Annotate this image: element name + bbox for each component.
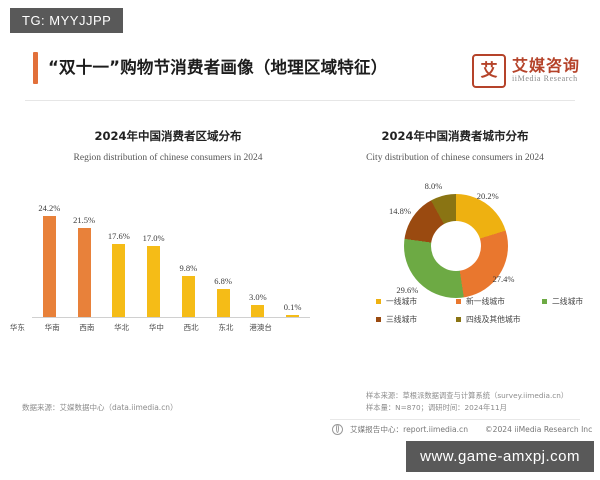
logo-text: 艾媒咨询 iiMedia Research [512,58,580,83]
footer-bar: 艾媒报告中心：report.iimedia.cn ©2024 iiMedia R… [332,424,592,435]
logo-name-en: iiMedia Research [512,75,580,83]
legend-item[interactable]: 二线城市 [542,296,588,307]
watermark-top-left: TG: MYYJJPP [10,8,123,33]
left-chart-subtitle: Region distribution of chinese consumers… [18,153,318,163]
donut-value-label: 20.2% [477,191,499,201]
bar-category-labels: 华东华南西南华北华中西北东北港澳台 [0,322,278,333]
left-chart-header: 2024年中国消费者区域分布 Region distribution of ch… [18,128,318,163]
bar-column: 3.0% [241,196,276,317]
legend-swatch-icon [456,299,461,304]
left-chart-title: 2024年中国消费者区域分布 [18,128,318,144]
bar-column: 0.1% [275,196,310,317]
bar-value-label: 17.0% [143,233,165,243]
bar-column: 21.5% [67,196,102,317]
bar-chart-axis [32,317,310,318]
legend-swatch-icon [456,317,461,322]
sample-size: 样本量：N=870；调研时间：2024年11月 [366,402,568,414]
bar [43,216,56,317]
bar-category-label: 华中 [139,322,174,333]
bar-value-label: 9.8% [180,263,198,273]
report-center-link[interactable]: 艾媒报告中心：report.iimedia.cn [350,424,468,435]
legend-swatch-icon [376,317,381,322]
donut-value-label: 29.6% [396,285,418,295]
donut-legend: 一线城市新一线城市二线城市三线城市四线及其他城市 [376,296,591,332]
bar [147,246,160,317]
legend-swatch-icon [542,299,547,304]
donut-hole [431,221,481,271]
bar-value-label: 0.1% [284,302,302,312]
logo-mark-icon: 艾 [472,54,506,88]
bar-value-label: 17.6% [108,231,130,241]
legend-label: 四线及其他城市 [466,314,521,325]
bar-category-label: 西北 [174,322,209,333]
donut-value-label: 8.0% [425,181,443,191]
bar-category-label: 华南 [35,322,70,333]
legend-item[interactable]: 四线及其他城市 [456,314,576,325]
bar-category-label: 华北 [104,322,139,333]
header-divider [25,100,575,101]
bar-value-label: 24.2% [38,203,60,213]
bar [112,244,125,317]
legend-swatch-icon [376,299,381,304]
bar-column: 6.8% [206,196,241,317]
globe-icon [332,424,343,435]
copyright-text: ©2024 iiMedia Research Inc [485,425,592,434]
right-chart-subtitle: City distribution of chinese consumers i… [320,153,590,163]
legend-item[interactable]: 三线城市 [376,314,456,325]
legend-item[interactable]: 新一线城市 [456,296,542,307]
donut-value-label: 27.4% [493,274,515,284]
legend-label: 二线城市 [552,296,583,307]
bar-category-label: 西南 [70,322,105,333]
watermark-bottom-right: www.game-amxpj.com [406,441,594,472]
bar [78,228,91,317]
bar-chart: 24.2%21.5%17.6%17.0%9.8%6.8%3.0%0.1% [32,196,310,318]
bar-category-label: 港澳台 [243,322,278,333]
legend-item[interactable]: 一线城市 [376,296,456,307]
bar-category-label: 东北 [209,322,244,333]
bar-column: 9.8% [171,196,206,317]
right-chart-header: 2024年中国消费者城市分布 City distribution of chin… [320,128,590,163]
donut-value-label: 14.8% [389,206,411,216]
right-source-note: 样本来源：草根派数据调查与计算系统（survey.iimedia.cn） 样本量… [366,390,568,415]
bar [182,276,195,317]
logo-name-cn: 艾媒咨询 [512,58,580,75]
infographic-slide: TG: MYYJJPP www.game-amxpj.com “双十一”购物节消… [0,0,600,480]
page-title: “双十一”购物节消费者画像（地理区域特征） [48,54,387,78]
bar-column: 17.6% [102,196,137,317]
bar-value-label: 6.8% [214,276,232,286]
bar [217,289,230,317]
footer-divider [330,419,580,420]
bar-category-label: 华东 [0,322,35,333]
title-accent-bar [33,52,38,84]
sample-source: 样本来源：草根派数据调查与计算系统（survey.iimedia.cn） [366,390,568,402]
right-chart-title: 2024年中国消费者城市分布 [320,128,590,144]
left-source-note: 数据来源：艾媒数据中心（data.iimedia.cn） [22,402,178,413]
brand-logo: 艾 艾媒咨询 iiMedia Research [472,54,580,88]
bar-value-label: 21.5% [73,215,95,225]
legend-label: 一线城市 [386,296,417,307]
legend-label: 新一线城市 [466,296,505,307]
bar-column: 17.0% [136,196,171,317]
bar [251,305,264,317]
bar-value-label: 3.0% [249,292,267,302]
bar-column: 24.2% [32,196,67,317]
bar-series: 24.2%21.5%17.6%17.0%9.8%6.8%3.0%0.1% [32,196,310,317]
legend-label: 三线城市 [386,314,417,325]
